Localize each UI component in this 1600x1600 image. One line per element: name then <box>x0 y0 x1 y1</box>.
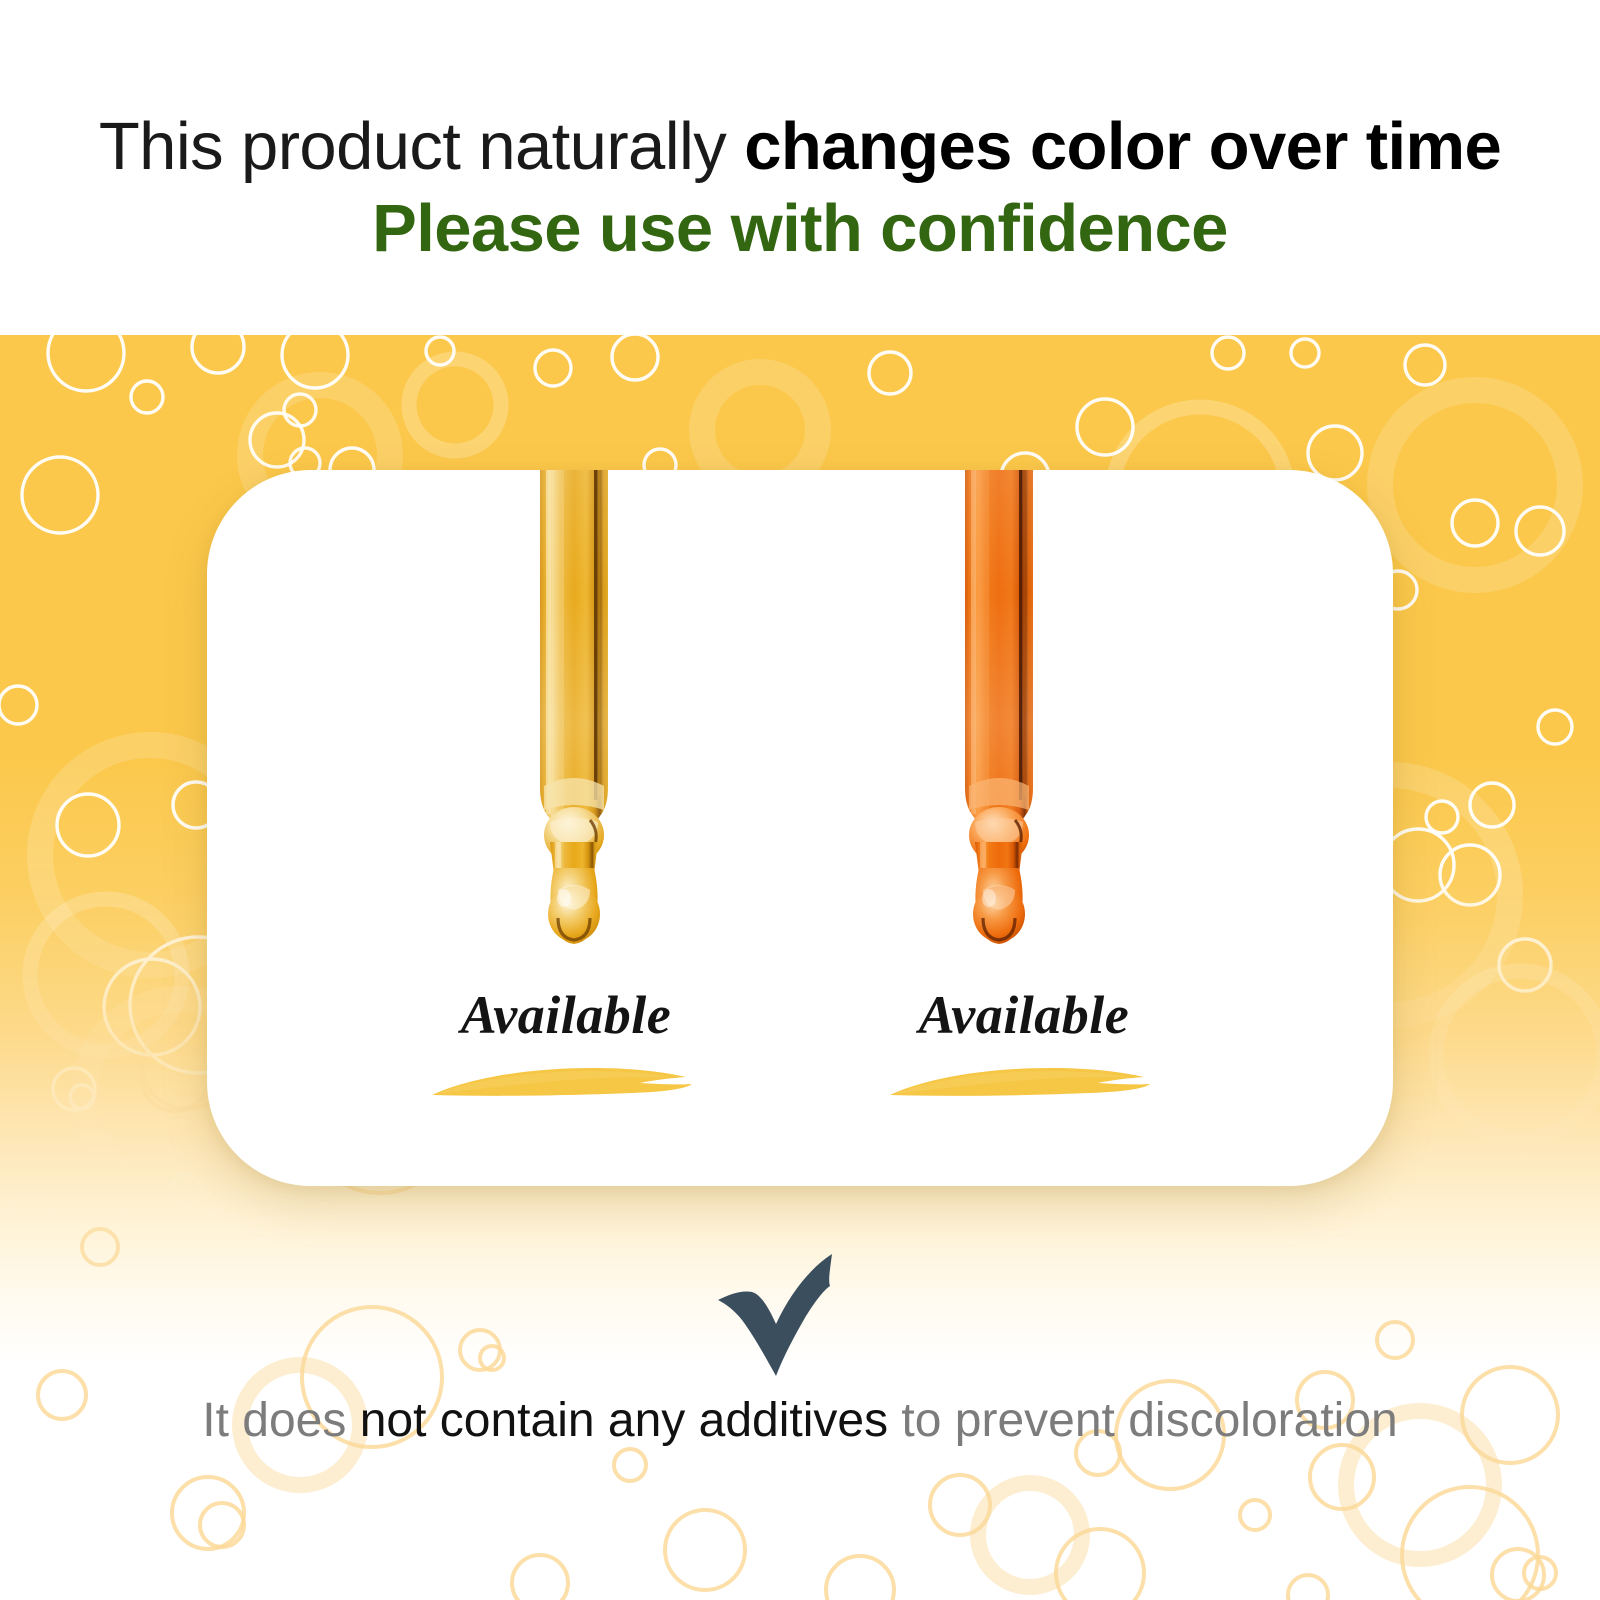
brush-underline-right <box>854 1059 1194 1103</box>
footer-caption-muted-end: to prevent discoloration <box>888 1394 1398 1447</box>
dropper-right-orange <box>953 470 1045 970</box>
footer-caption-emphasis: not contain any additives <box>360 1394 888 1447</box>
footer-caption-muted-start: It does <box>202 1394 359 1447</box>
sample-comparison-card <box>207 470 1393 1186</box>
sample-label-left: Available <box>396 985 736 1103</box>
page-subtitle: Please use with confidence <box>0 186 1600 272</box>
availability-text-left: Available <box>396 985 736 1045</box>
page-title: This product naturally changes color ove… <box>0 104 1600 190</box>
availability-text-right: Available <box>854 985 1194 1045</box>
check-mark-icon <box>706 1250 892 1378</box>
promo-poster: This product naturally changes color ove… <box>0 0 1600 1600</box>
brush-underline-left <box>396 1059 736 1103</box>
sample-label-right: Available <box>854 985 1194 1103</box>
page-title-light: This product naturally <box>99 109 744 184</box>
page-title-strong: changes color over time <box>744 109 1501 184</box>
footer-caption: It does not contain any additives to pre… <box>0 1390 1600 1452</box>
dropper-left-golden <box>528 470 620 970</box>
header-band: This product naturally changes color ove… <box>0 0 1600 335</box>
